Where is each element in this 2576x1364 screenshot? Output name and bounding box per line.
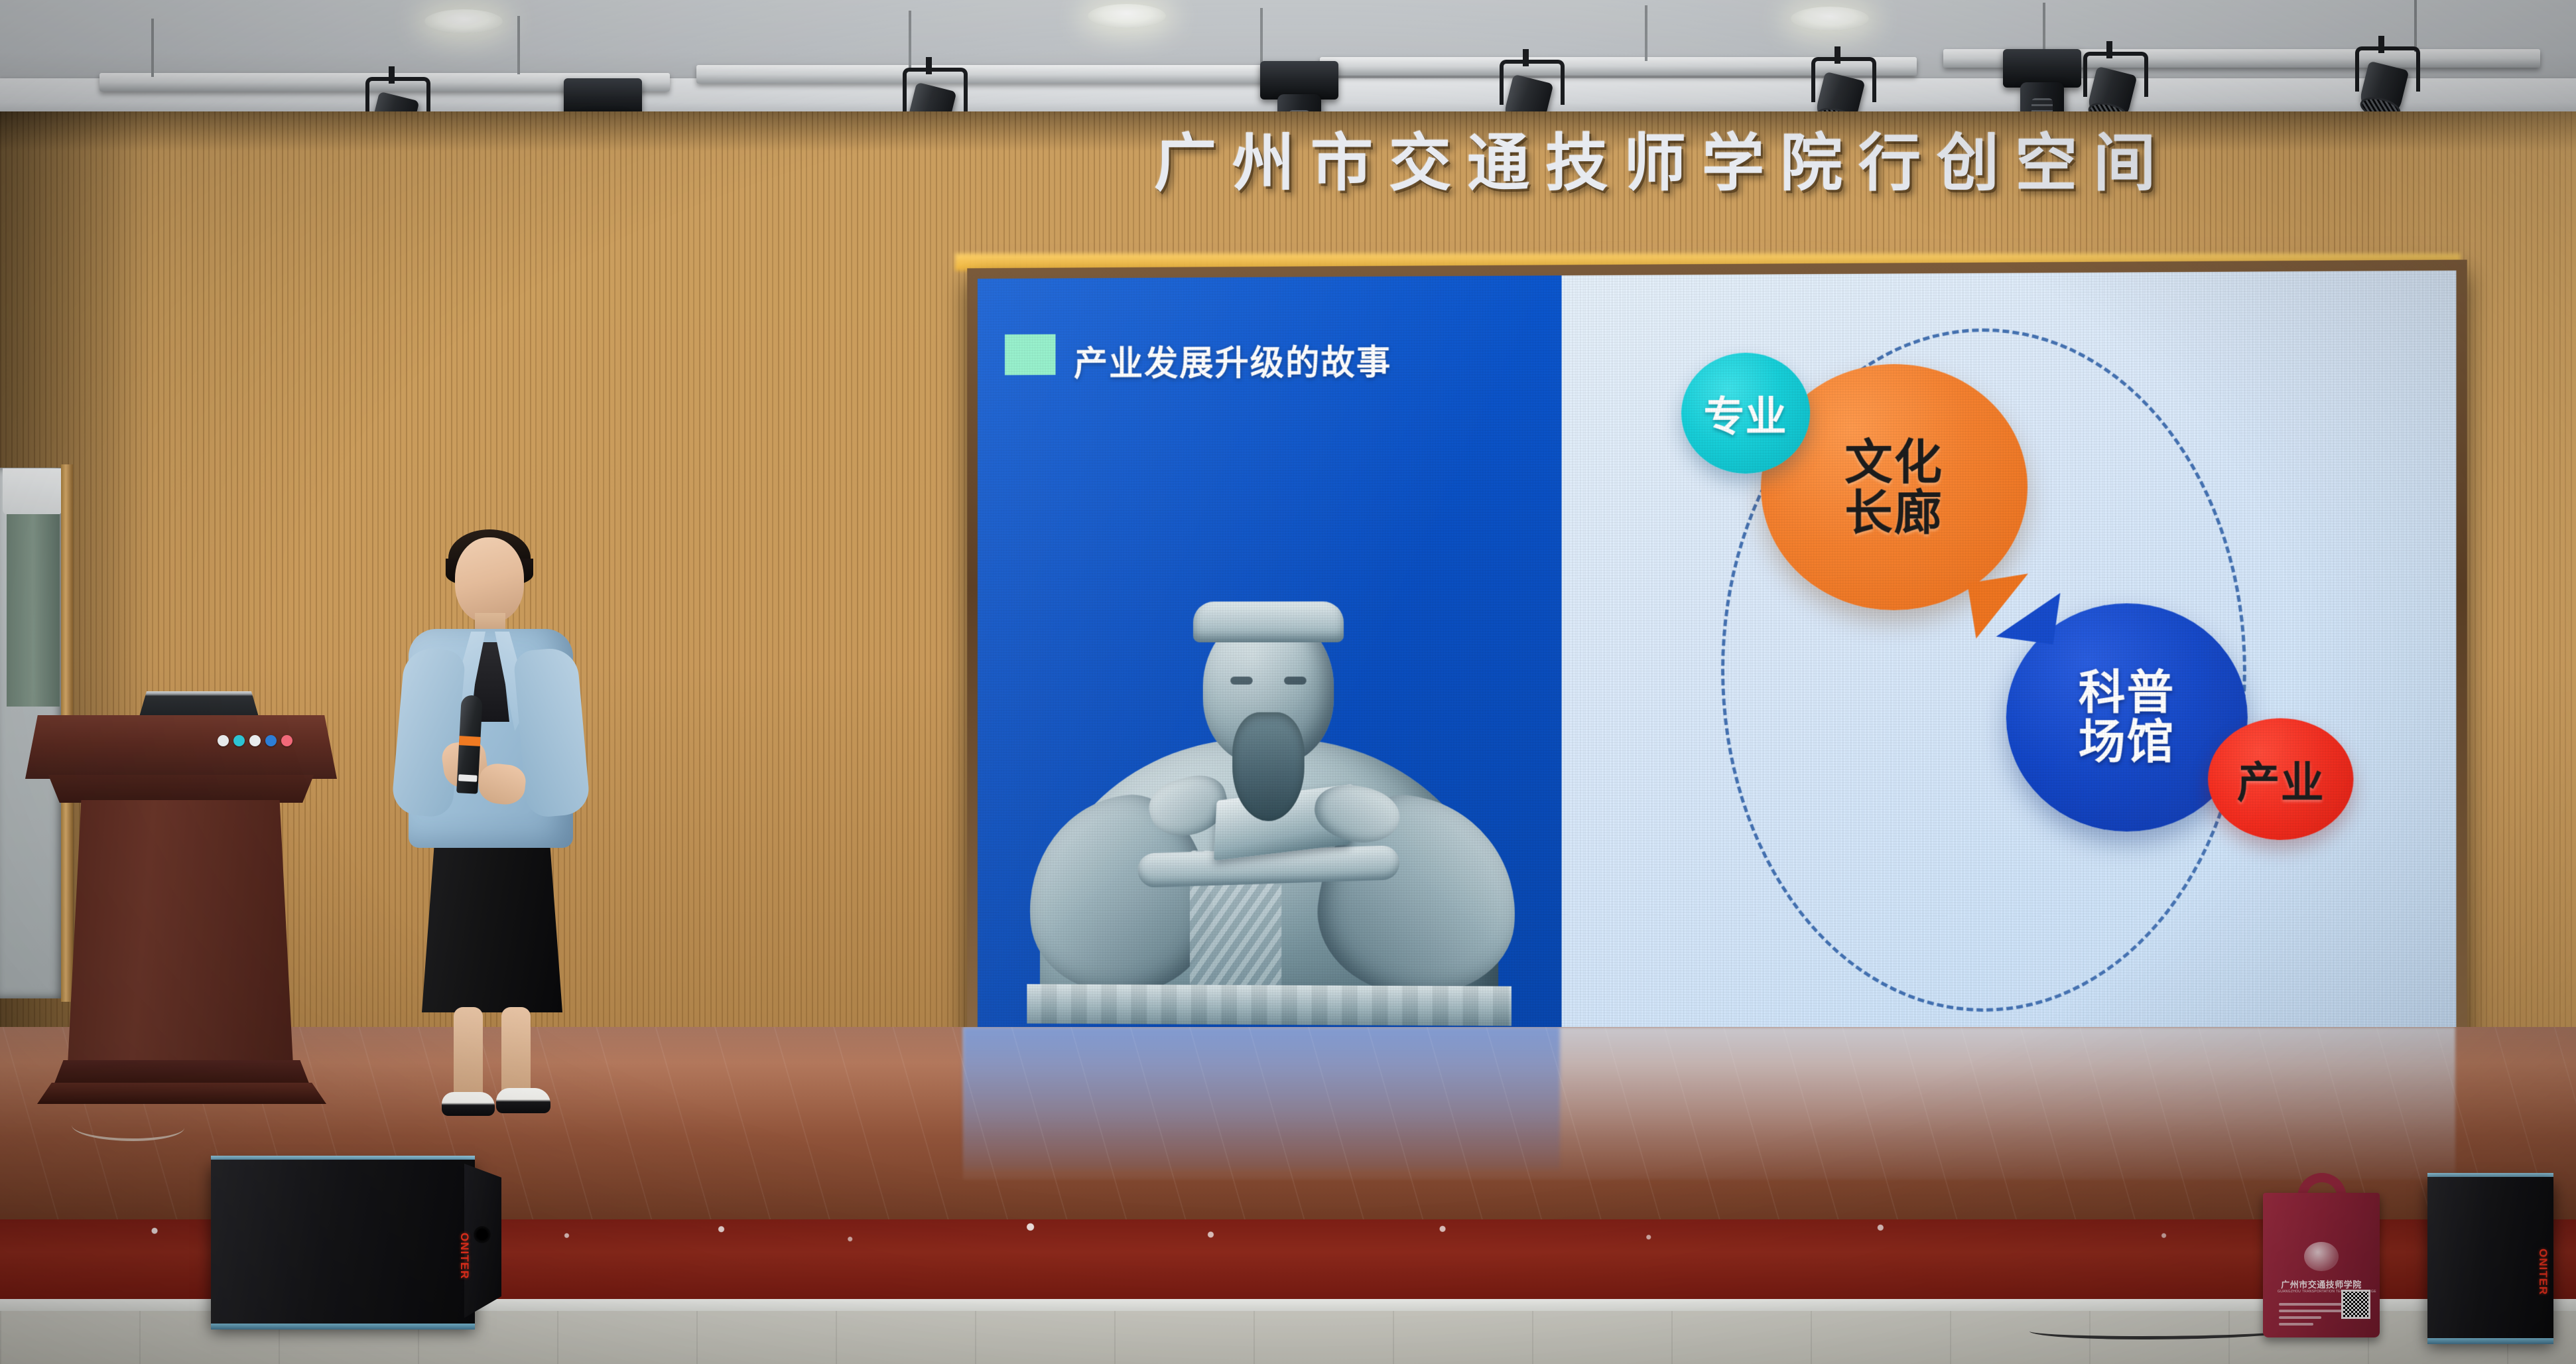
- stage-presentation-photo: 广 州 市 交 通 技 师 学 院 行 创 空 间 产业发展升级的故事: [0, 0, 2576, 1364]
- slide-title: 产业发展升级的故事: [1074, 334, 1391, 385]
- presenter-leg-right: [501, 1007, 531, 1101]
- slide-right-panel: 专业 文化 长廊 科普 场馆 产业: [1562, 271, 2457, 1063]
- presenter-leg-left: [454, 1007, 483, 1101]
- qr-code-icon: [2341, 1290, 2370, 1319]
- wall-sign-char: 通: [1467, 133, 1529, 195]
- wall-sign-char: 交: [1389, 133, 1451, 195]
- podium-button[interactable]: [265, 735, 277, 746]
- tote-bag-info-lines: [2279, 1303, 2348, 1330]
- wall-sign-char: 技: [1545, 133, 1608, 195]
- tote-bag-body: 广州市交通技师学院 GUANGZHOU TRANSPORTATION TECHN…: [2263, 1193, 2380, 1337]
- wall-sign-char: 师: [1624, 133, 1686, 195]
- tote-bag: 广州市交通技师学院 GUANGZHOU TRANSPORTATION TECHN…: [2263, 1172, 2380, 1337]
- stage-monitor-speaker-right: ONITER: [2427, 1177, 2553, 1340]
- bubble-line: 场馆: [2079, 718, 2175, 768]
- wall-sign-char: 州: [1232, 133, 1295, 195]
- wall-sign-char: 学: [1702, 133, 1764, 195]
- speaker-brand-label: ONITER: [2536, 1249, 2549, 1295]
- confucius-statue-image: [989, 463, 1549, 1057]
- podium-button[interactable]: [233, 735, 245, 746]
- bubble-zhuanye: 专业: [1681, 353, 1810, 474]
- tote-bag-org-name-cn: 广州市交通技师学院: [2278, 1278, 2365, 1290]
- truss-wire: [1260, 8, 1263, 64]
- presenter-head: [455, 537, 524, 622]
- bubble-line: 文化: [1844, 436, 1943, 487]
- podium-control-buttons[interactable]: [218, 735, 292, 746]
- truss-wire: [1645, 5, 1647, 61]
- stage-monitor-speaker-left: ONITER: [211, 1160, 475, 1326]
- truss-wire: [151, 19, 154, 77]
- truss-wire: [517, 16, 520, 74]
- wall-sign-char: 广: [1154, 133, 1216, 195]
- podium-button[interactable]: [281, 735, 292, 746]
- ceiling-lamp-icon: [424, 9, 503, 33]
- wall-sign-char: 创: [1937, 133, 1999, 195]
- led-screen-frame: 产业发展升级的故事: [967, 259, 2467, 1076]
- presenter: [370, 531, 609, 1115]
- slide-title-accent-chip: [1005, 334, 1055, 375]
- bubble-chanye-label: 产业: [2237, 748, 2325, 810]
- slide-left-panel: 产业发展升级的故事: [978, 275, 1562, 1058]
- wall-sign-char: 市: [1311, 133, 1373, 195]
- lighting-truss: [696, 65, 1293, 84]
- bubble-kepu-changguan-label: 科普 场馆: [2079, 668, 2175, 767]
- ceiling-duct: [3, 468, 62, 515]
- wall-sign-char: 院: [1780, 133, 1842, 195]
- bubble-zhuanye-label: 专业: [1704, 383, 1787, 444]
- bubble-line: 长廊: [1844, 487, 1943, 538]
- venue-wall-sign: 广 州 市 交 通 技 师 学 院 行 创 空 间: [1154, 133, 2156, 195]
- wall-sign-char: 间: [2093, 133, 2156, 195]
- presenter-skirt: [422, 823, 562, 1012]
- green-electrical-cabinet: [7, 514, 60, 707]
- ceiling-lamp-icon: [1088, 4, 1166, 28]
- bubble-chanye: 产业: [2208, 718, 2353, 840]
- podium-button[interactable]: [218, 735, 229, 746]
- podium-collar: [40, 775, 322, 803]
- podium-button[interactable]: [249, 735, 261, 746]
- podium-body: [68, 800, 293, 1065]
- ceiling-lamp-icon: [1791, 7, 1869, 31]
- podium-top: [25, 715, 337, 779]
- wall-sign-char: 空: [2015, 133, 2077, 195]
- bubble-wenhua-changlang-label: 文化 长廊: [1844, 436, 1943, 537]
- podium-foot: [37, 1083, 326, 1104]
- truss-wire: [2043, 3, 2045, 56]
- speaker-brand-label: ONITER: [458, 1233, 471, 1279]
- presenter-shoe-right: [496, 1088, 550, 1113]
- bubble-line: 科普: [2079, 668, 2175, 718]
- wall-sign-char: 行: [1858, 133, 1921, 195]
- truss-wire: [2414, 0, 2417, 52]
- presenter-arm-right: [513, 646, 591, 818]
- podium[interactable]: [25, 691, 337, 1103]
- presenter-shoe-left: [442, 1092, 495, 1116]
- led-screen: 产业发展升级的故事: [978, 271, 2457, 1063]
- truss-wire: [909, 11, 911, 69]
- college-logo-icon: [2304, 1242, 2339, 1271]
